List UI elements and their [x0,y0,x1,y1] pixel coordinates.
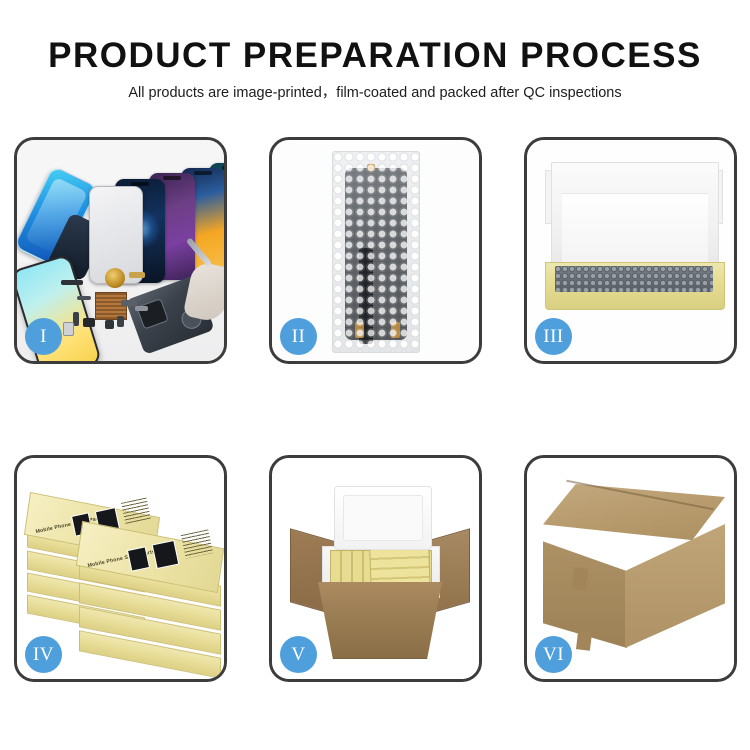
process-steps-grid: I II [14,137,737,682]
process-step-card-6[interactable]: VI [524,455,737,682]
open-inner-box [545,162,723,332]
process-step-card-5[interactable]: V [269,455,482,682]
spare-part [63,322,74,336]
step-badge-6: VI [535,636,572,673]
spare-part [61,280,83,285]
spare-part [121,300,137,306]
process-step-card-2[interactable]: II [269,137,482,364]
foam-box-lid [334,486,432,550]
process-row-2: Mobile Phone Spare Parts Mobile Phone Sp… [14,455,737,682]
box-printed-screen-image [152,540,180,569]
open-shipping-carton [292,484,468,654]
step-badge-3: III [535,318,572,355]
process-row-1: I II [14,137,737,364]
foam-lid [551,162,719,272]
bubble-wrapped-contents [555,266,713,292]
notch-icon [222,166,224,170]
page-title: PRODUCT PREPARATION PROCESS [0,38,750,73]
notch-icon [163,176,181,180]
connector [391,322,400,338]
spare-part [83,318,95,327]
step-badge-5: V [280,636,317,673]
step-badge-2: II [280,318,317,355]
page-header: PRODUCT PREPARATION PROCESS All products… [0,0,750,101]
carton-right-face [625,524,725,648]
speaker-coil-part [105,268,125,288]
notch-icon [194,171,212,175]
connector [367,164,375,171]
page-subtitle: All products are image-printed，film-coat… [0,86,750,101]
carton-body [318,582,442,659]
process-step-card-3[interactable]: III [524,137,737,364]
sealed-shipping-carton [543,484,725,652]
spare-part [129,272,145,278]
spare-part [135,306,148,311]
process-step-card-1[interactable]: I [14,137,227,364]
spare-part [117,316,124,327]
step-badge-1: I [25,318,62,355]
carton-tape-patch [576,631,592,651]
spare-part [77,296,91,300]
spare-part [105,320,114,329]
wrapped-display-assembly [345,168,407,340]
carton-tape-patch [572,567,589,591]
retail-box-stack: Mobile Phone Spare Parts Mobile Phone Sp… [23,476,223,666]
connector [355,322,364,338]
step-badge-4: IV [25,636,62,673]
process-step-card-4[interactable]: Mobile Phone Spare Parts Mobile Phone Sp… [14,455,227,682]
bubble-wrap-bag [332,151,420,353]
